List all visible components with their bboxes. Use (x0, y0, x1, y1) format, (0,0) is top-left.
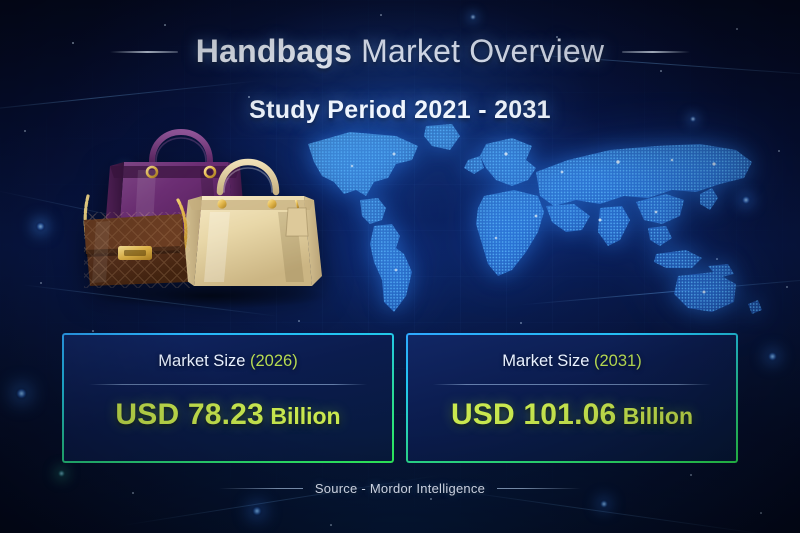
infographic-canvas: Handbags Market Overview Study Period 20… (0, 0, 800, 533)
card-value-amount: USD 78.23 (115, 398, 264, 431)
card-value-unit: Billion (264, 403, 341, 429)
world-map-graphic (300, 120, 770, 320)
card-label-year: (2026) (250, 352, 298, 370)
card-value-2031: USD 101.06 Billion (451, 398, 693, 432)
card-value-amount: USD 101.06 (451, 398, 616, 431)
title-keyword: Handbags (196, 33, 352, 69)
source-rule-left (219, 488, 303, 489)
study-period-label: Study Period 2021 - 2031 (0, 96, 800, 125)
market-size-card-2026: Market Size (2026) USD 78.23 Billion (62, 333, 394, 463)
card-label-year: (2031) (594, 352, 642, 370)
card-divider (89, 384, 368, 385)
market-size-card-2031: Market Size (2031) USD 101.06 Billion (406, 333, 738, 463)
page-title: Handbags Market Overview (0, 33, 800, 70)
card-divider (433, 384, 712, 385)
main-title-text: Handbags Market Overview (196, 33, 604, 70)
card-label-2026: Market Size (2026) (158, 352, 297, 371)
card-label-prefix: Market Size (158, 352, 250, 370)
source-attribution: Source - Mordor Intelligence (0, 481, 800, 496)
title-rule-left (110, 51, 178, 53)
source-rule-right (497, 488, 581, 489)
card-label-2031: Market Size (2031) (502, 352, 641, 371)
title-rule-right (622, 51, 690, 53)
source-text: Source - Mordor Intelligence (315, 481, 485, 496)
handbags-product-image (60, 100, 350, 310)
card-value-2026: USD 78.23 Billion (115, 398, 340, 432)
market-size-cards: Market Size (2026) USD 78.23 Billion Mar… (62, 333, 738, 463)
card-label-prefix: Market Size (502, 352, 594, 370)
title-remainder: Market Overview (352, 33, 604, 69)
card-value-unit: Billion (616, 403, 693, 429)
